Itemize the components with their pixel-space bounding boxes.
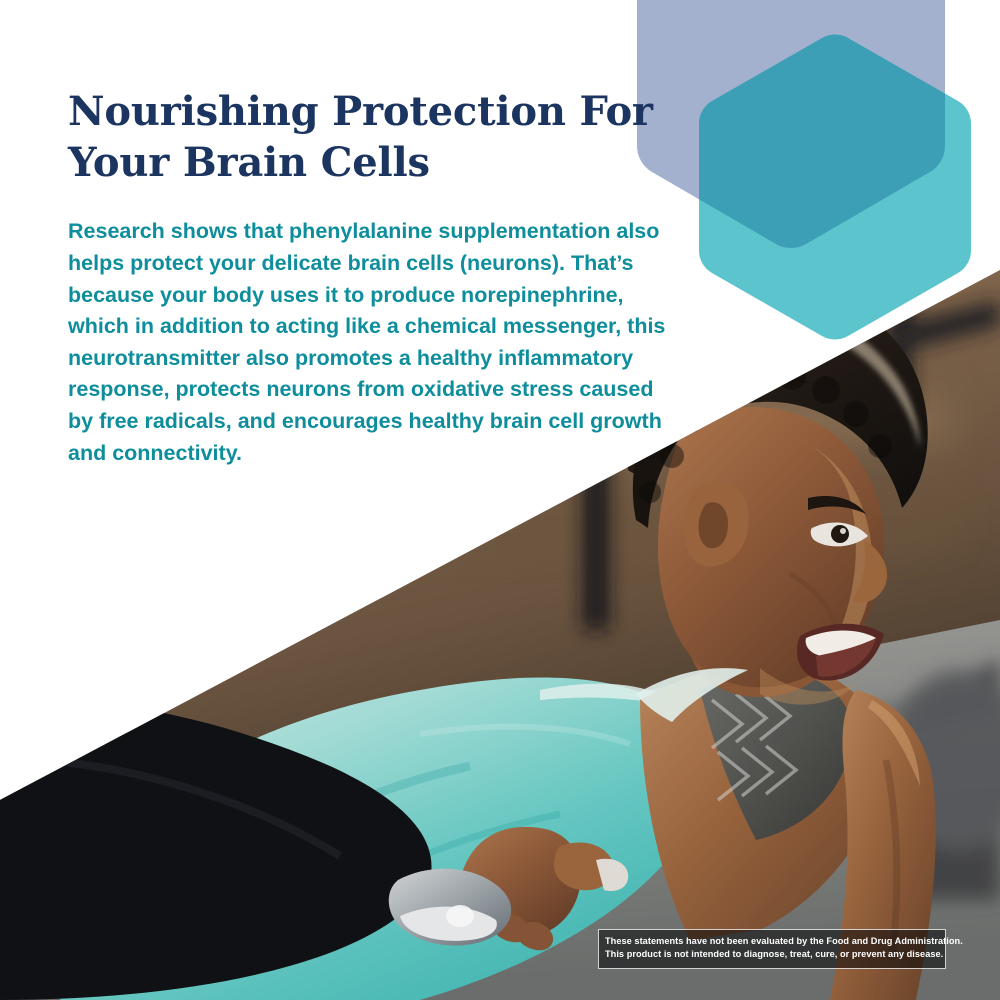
page-title: Nourishing Protection For Your Brain Cel… (68, 86, 718, 188)
text-column: Nourishing Protection For Your Brain Cel… (68, 86, 718, 469)
fda-disclaimer-line-1: These statements have not been evaluated… (605, 935, 939, 948)
body-paragraph: Research shows that phenylalanine supple… (68, 188, 668, 469)
infographic-canvas: Nourishing Protection For Your Brain Cel… (0, 0, 1000, 1000)
fda-disclaimer-box: These statements have not been evaluated… (598, 929, 946, 969)
hexagon-front-shape (699, 35, 971, 340)
fda-disclaimer-line-2: This product is not intended to diagnose… (605, 948, 939, 961)
